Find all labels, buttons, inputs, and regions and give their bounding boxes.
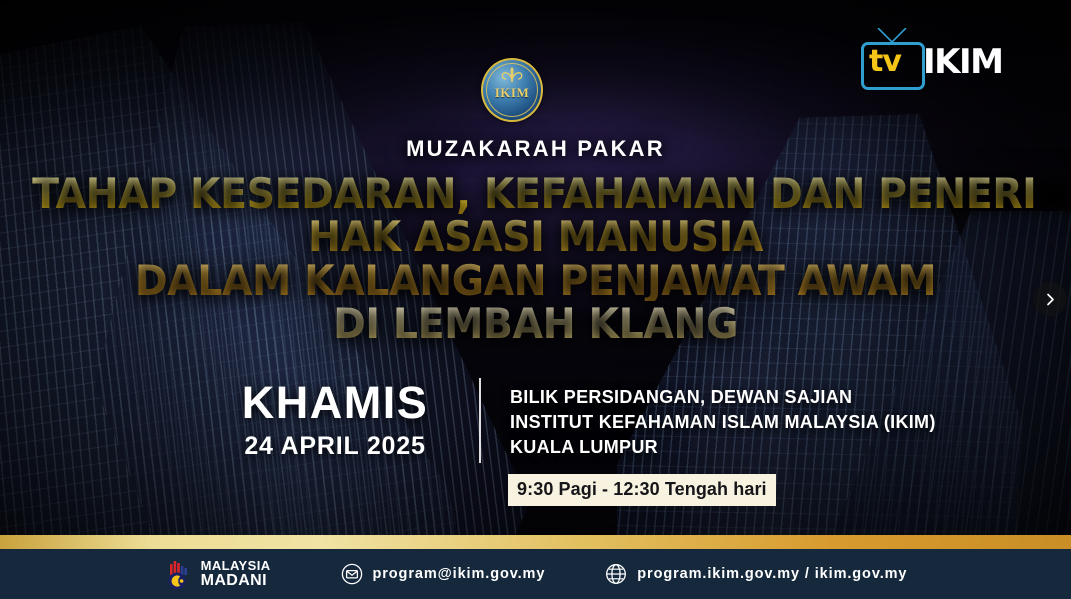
poster-footer: MALAYSIA MADANI program@ikim.gov.my: [0, 549, 1071, 599]
madani-emblem-icon: [164, 558, 194, 590]
headline-line-3: DALAM KALANGAN PENJAWAT AWAM: [32, 261, 1039, 301]
venue-line-3: KUALA LUMPUR: [510, 435, 936, 460]
venue-line-2: INSTITUT KEFAHAMAN ISLAM MALAYSIA (IKIM): [510, 410, 936, 435]
tv-logo-tv-text: tv: [869, 46, 901, 78]
malaysia-madani-logo: MALAYSIA MADANI: [164, 558, 271, 590]
event-venue-block: BILIK PERSIDANGAN, DEWAN SAJIAN INSTITUT…: [510, 385, 936, 460]
event-day: KHAMIS: [190, 378, 480, 428]
tv-logo-ikim-text: IKIM: [923, 44, 1002, 80]
footer-website-text: program.ikim.gov.my / ikim.gov.my: [637, 566, 907, 582]
footer-website[interactable]: program.ikim.gov.my / ikim.gov.my: [605, 563, 907, 585]
madani-line-1: MALAYSIA: [201, 559, 271, 572]
chevron-right-icon: [1044, 293, 1057, 306]
headline-line-2: HAK ASASI MANUSIA: [32, 217, 1039, 257]
gold-accent-bar: [0, 535, 1071, 549]
event-time-badge: 9:30 Pagi - 12:30 Tengah hari: [508, 474, 776, 506]
vertical-divider: [479, 378, 481, 463]
event-poster-slide: IKIM tv IKIM MUZAKARAH PAKAR TAHAP KESED…: [0, 0, 1071, 599]
event-date-block: KHAMIS 24 APRIL 2025: [190, 378, 480, 461]
globe-icon: [605, 563, 627, 585]
event-date: 24 APRIL 2025: [190, 432, 480, 461]
tv-ikim-logo: tv IKIM: [861, 32, 1013, 84]
venue-line-1: BILIK PERSIDANGAN, DEWAN SAJIAN: [510, 385, 936, 410]
carousel-next-button[interactable]: [1033, 282, 1067, 316]
madani-line-2: MADANI: [201, 573, 271, 589]
emblem-mark-text: IKIM: [481, 58, 543, 122]
event-headline: TAHAP KESEDARAN, KEFAHAMAN DAN PENERIMAA…: [0, 174, 1071, 344]
footer-email-text: program@ikim.gov.my: [373, 566, 546, 582]
envelope-icon: [341, 563, 363, 585]
headline-line-4: DI LEMBAH KLANG: [32, 304, 1039, 344]
headline-line-1: TAHAP KESEDARAN, KEFAHAMAN DAN PENERIMAA…: [32, 174, 1039, 214]
footer-email[interactable]: program@ikim.gov.my: [341, 563, 546, 585]
ikim-emblem: IKIM: [481, 58, 543, 122]
event-kicker: MUZAKARAH PAKAR: [0, 136, 1071, 162]
